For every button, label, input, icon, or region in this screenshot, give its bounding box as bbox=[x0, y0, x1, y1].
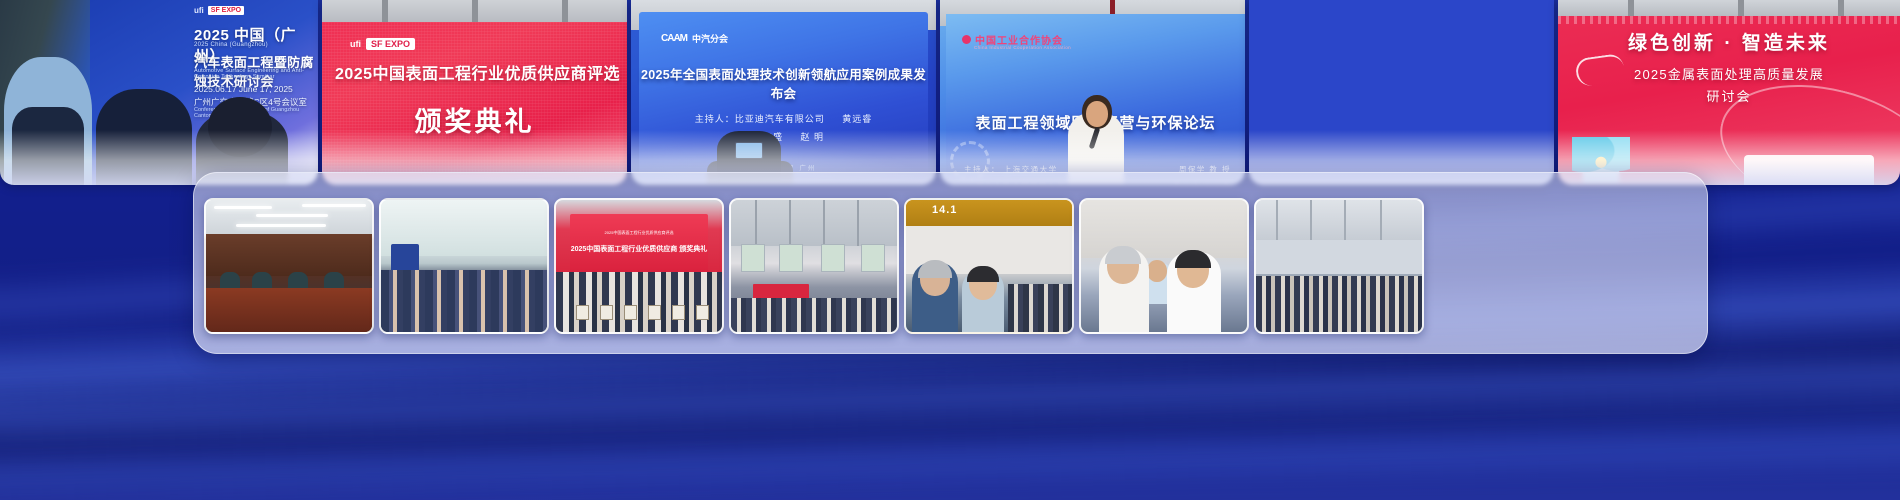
group-photo-crowd bbox=[381, 270, 547, 332]
audience-rows bbox=[1256, 276, 1422, 332]
ufi-logo-text: ufi bbox=[194, 6, 204, 15]
thumb-seminar-audience[interactable] bbox=[1254, 198, 1424, 334]
thumb-award-ceremony[interactable]: 2025中国表面工程行业优质供应商评选 2025中国表面工程行业优质供应商 颁奖… bbox=[554, 198, 724, 334]
host-label-1: 主持人：比亚迪汽车有限公司 bbox=[695, 114, 825, 124]
thumb-exhibition-hall[interactable] bbox=[729, 198, 899, 334]
hero-panel-green-innovation-banner[interactable]: 绿色创新 · 智造未来 2025金属表面处理高质量发展 研讨会 bbox=[1558, 0, 1900, 185]
speaker-face bbox=[1086, 101, 1108, 127]
ceiling-strip bbox=[322, 0, 627, 22]
certificate bbox=[648, 305, 661, 320]
sf-expo-logo: SF EXPO bbox=[366, 38, 415, 50]
hall-window bbox=[821, 244, 845, 272]
cica-logo-label-en: China Industrial Cooperation Association bbox=[974, 45, 1071, 50]
caam-logo: CAAM 中汽分会 bbox=[661, 32, 728, 45]
award-backdrop-line-2: 2025中国表面工程行业优质供应商 颁奖典礼 bbox=[570, 244, 708, 254]
hall-roof-trusses bbox=[1256, 200, 1422, 240]
booth-number-label: 14.1 bbox=[932, 204, 957, 216]
hero-panel-screen-edge[interactable] bbox=[1249, 0, 1554, 185]
wall-panel bbox=[206, 234, 372, 276]
green-banner-line-1: 绿色创新 · 智造未来 bbox=[1558, 28, 1900, 55]
decorative-lace-border bbox=[1558, 16, 1900, 24]
ufi-logo-text: ufi bbox=[350, 39, 361, 49]
award-backdrop-line-1: 2025中国表面工程行业优质供应商评选 bbox=[570, 230, 708, 236]
sf-expo-logo: SF EXPO bbox=[208, 6, 244, 15]
certificate bbox=[600, 305, 613, 320]
banner-year-en: 2025 China (Guangzhou) bbox=[194, 42, 268, 48]
banner-date: 2025.06.17 June 17, 2025 bbox=[194, 84, 293, 94]
host-name-1: 黄远睿 bbox=[842, 114, 872, 124]
attendee-face bbox=[1147, 260, 1167, 282]
caam-logo-mark: CAAM bbox=[661, 33, 687, 44]
screen-title: 2025年全国表面处理技术创新领航应用案例成果发布会 bbox=[639, 64, 928, 102]
caam-logo-label: 中汽分会 bbox=[692, 32, 728, 45]
audience-rows bbox=[1008, 284, 1072, 332]
certificate bbox=[624, 305, 637, 320]
hall-window bbox=[861, 244, 885, 272]
certificate bbox=[672, 305, 685, 320]
cica-logo-dot bbox=[962, 35, 971, 44]
thumb-conference-room[interactable] bbox=[204, 198, 374, 334]
hero-panel-registration-banner[interactable]: ufi SF EXPO 2025 中国（广州） 2025 China (Guan… bbox=[0, 0, 318, 185]
ceiling-lights bbox=[206, 200, 372, 234]
thumb-group-photo[interactable] bbox=[379, 198, 549, 334]
award-banner-line-1: 2025中国表面工程行业优质供应商评选 bbox=[332, 60, 623, 84]
booth-header-band: 14.1 bbox=[906, 200, 1072, 226]
hero-panel-supplier-award-banner[interactable]: ufi SF EXPO 2025中国表面工程行业优质供应商评选 颁奖典礼 bbox=[322, 0, 627, 185]
gallery-stage: ufi SF EXPO 2025 中国（广州） 2025 China (Guan… bbox=[0, 0, 1900, 500]
hall-window bbox=[779, 244, 803, 272]
banner-title-en: Automotive Surface Engineering and Anti-… bbox=[194, 68, 318, 80]
host-line-1: 主持人：比亚迪汽车有限公司 黄远睿 bbox=[639, 112, 928, 125]
photo-thumbnail-strip: 2025中国表面工程行业优质供应商评选 2025中国表面工程行业优质供应商 颁奖… bbox=[204, 198, 1696, 330]
ufi-approved-badge: ufi SF EXPO bbox=[194, 6, 244, 15]
hero-panel-innovation-release-screen[interactable]: CAAM 中汽分会 2025年全国表面处理技术创新领航应用案例成果发布会 主持人… bbox=[631, 0, 936, 185]
booth-wall bbox=[1081, 200, 1247, 258]
certificate bbox=[576, 305, 589, 320]
award-recipients-row bbox=[556, 272, 722, 332]
ufi-approved-badge: ufi SF EXPO bbox=[350, 38, 415, 50]
hero-panel-park-operation-forum-screen[interactable]: 中国工业合作协会 China Industrial Cooperation As… bbox=[940, 0, 1245, 185]
ceiling-strip bbox=[1558, 0, 1900, 16]
hall-window bbox=[741, 244, 765, 272]
booth-wall bbox=[1256, 240, 1422, 274]
certificate bbox=[696, 305, 709, 320]
hall-roof-trusses bbox=[731, 200, 897, 246]
audience-rows bbox=[731, 298, 897, 332]
thumb-audience-front-row[interactable]: 14.1 bbox=[904, 198, 1074, 334]
hero-photo-row: ufi SF EXPO 2025 中国（广州） 2025 China (Guan… bbox=[0, 0, 1900, 195]
award-stage-backdrop: 2025中国表面工程行业优质供应商评选 2025中国表面工程行业优质供应商 颁奖… bbox=[570, 214, 708, 276]
thumb-delegates-discussion[interactable] bbox=[1079, 198, 1249, 334]
green-banner-line-2: 2025金属表面处理高质量发展 bbox=[1558, 64, 1900, 83]
head-table bbox=[206, 288, 372, 332]
